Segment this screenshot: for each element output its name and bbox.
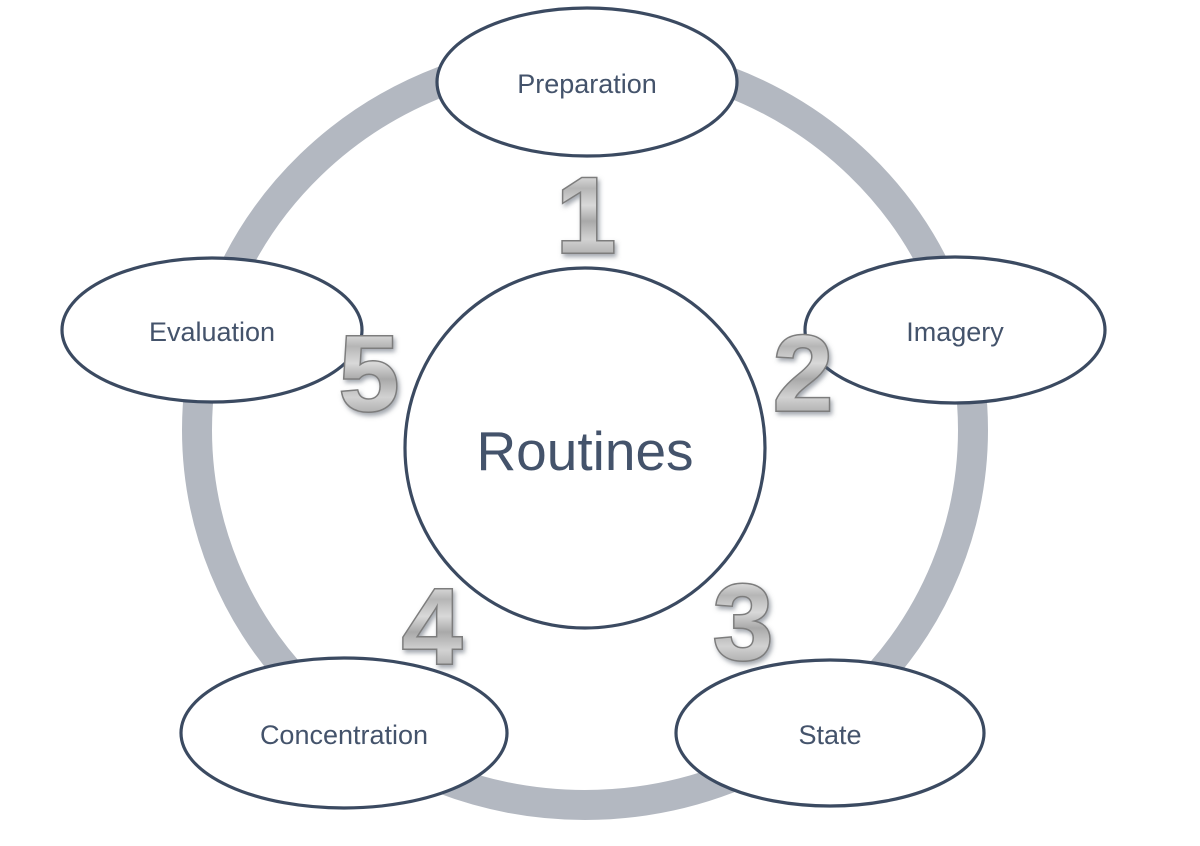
cycle-diagram: Preparation Imagery State Concentration … [0,0,1200,846]
step-number-5: 5 [339,313,399,434]
step-number-1: 1 [556,155,616,276]
evaluation-label: Evaluation [149,317,275,347]
imagery-label: Imagery [906,317,1004,347]
concentration-label: Concentration [260,720,428,750]
node-imagery[interactable]: Imagery [805,257,1105,403]
step-number-3: 3 [713,562,773,683]
step-number-4: 4 [402,566,462,687]
preparation-label: Preparation [517,69,657,99]
diagram-canvas: Preparation Imagery State Concentration … [0,0,1200,846]
hub-label: Routines [476,420,693,482]
node-preparation[interactable]: Preparation [437,8,737,156]
node-evaluation[interactable]: Evaluation [62,258,362,402]
state-label: State [798,720,861,750]
step-number-2: 2 [773,313,833,434]
